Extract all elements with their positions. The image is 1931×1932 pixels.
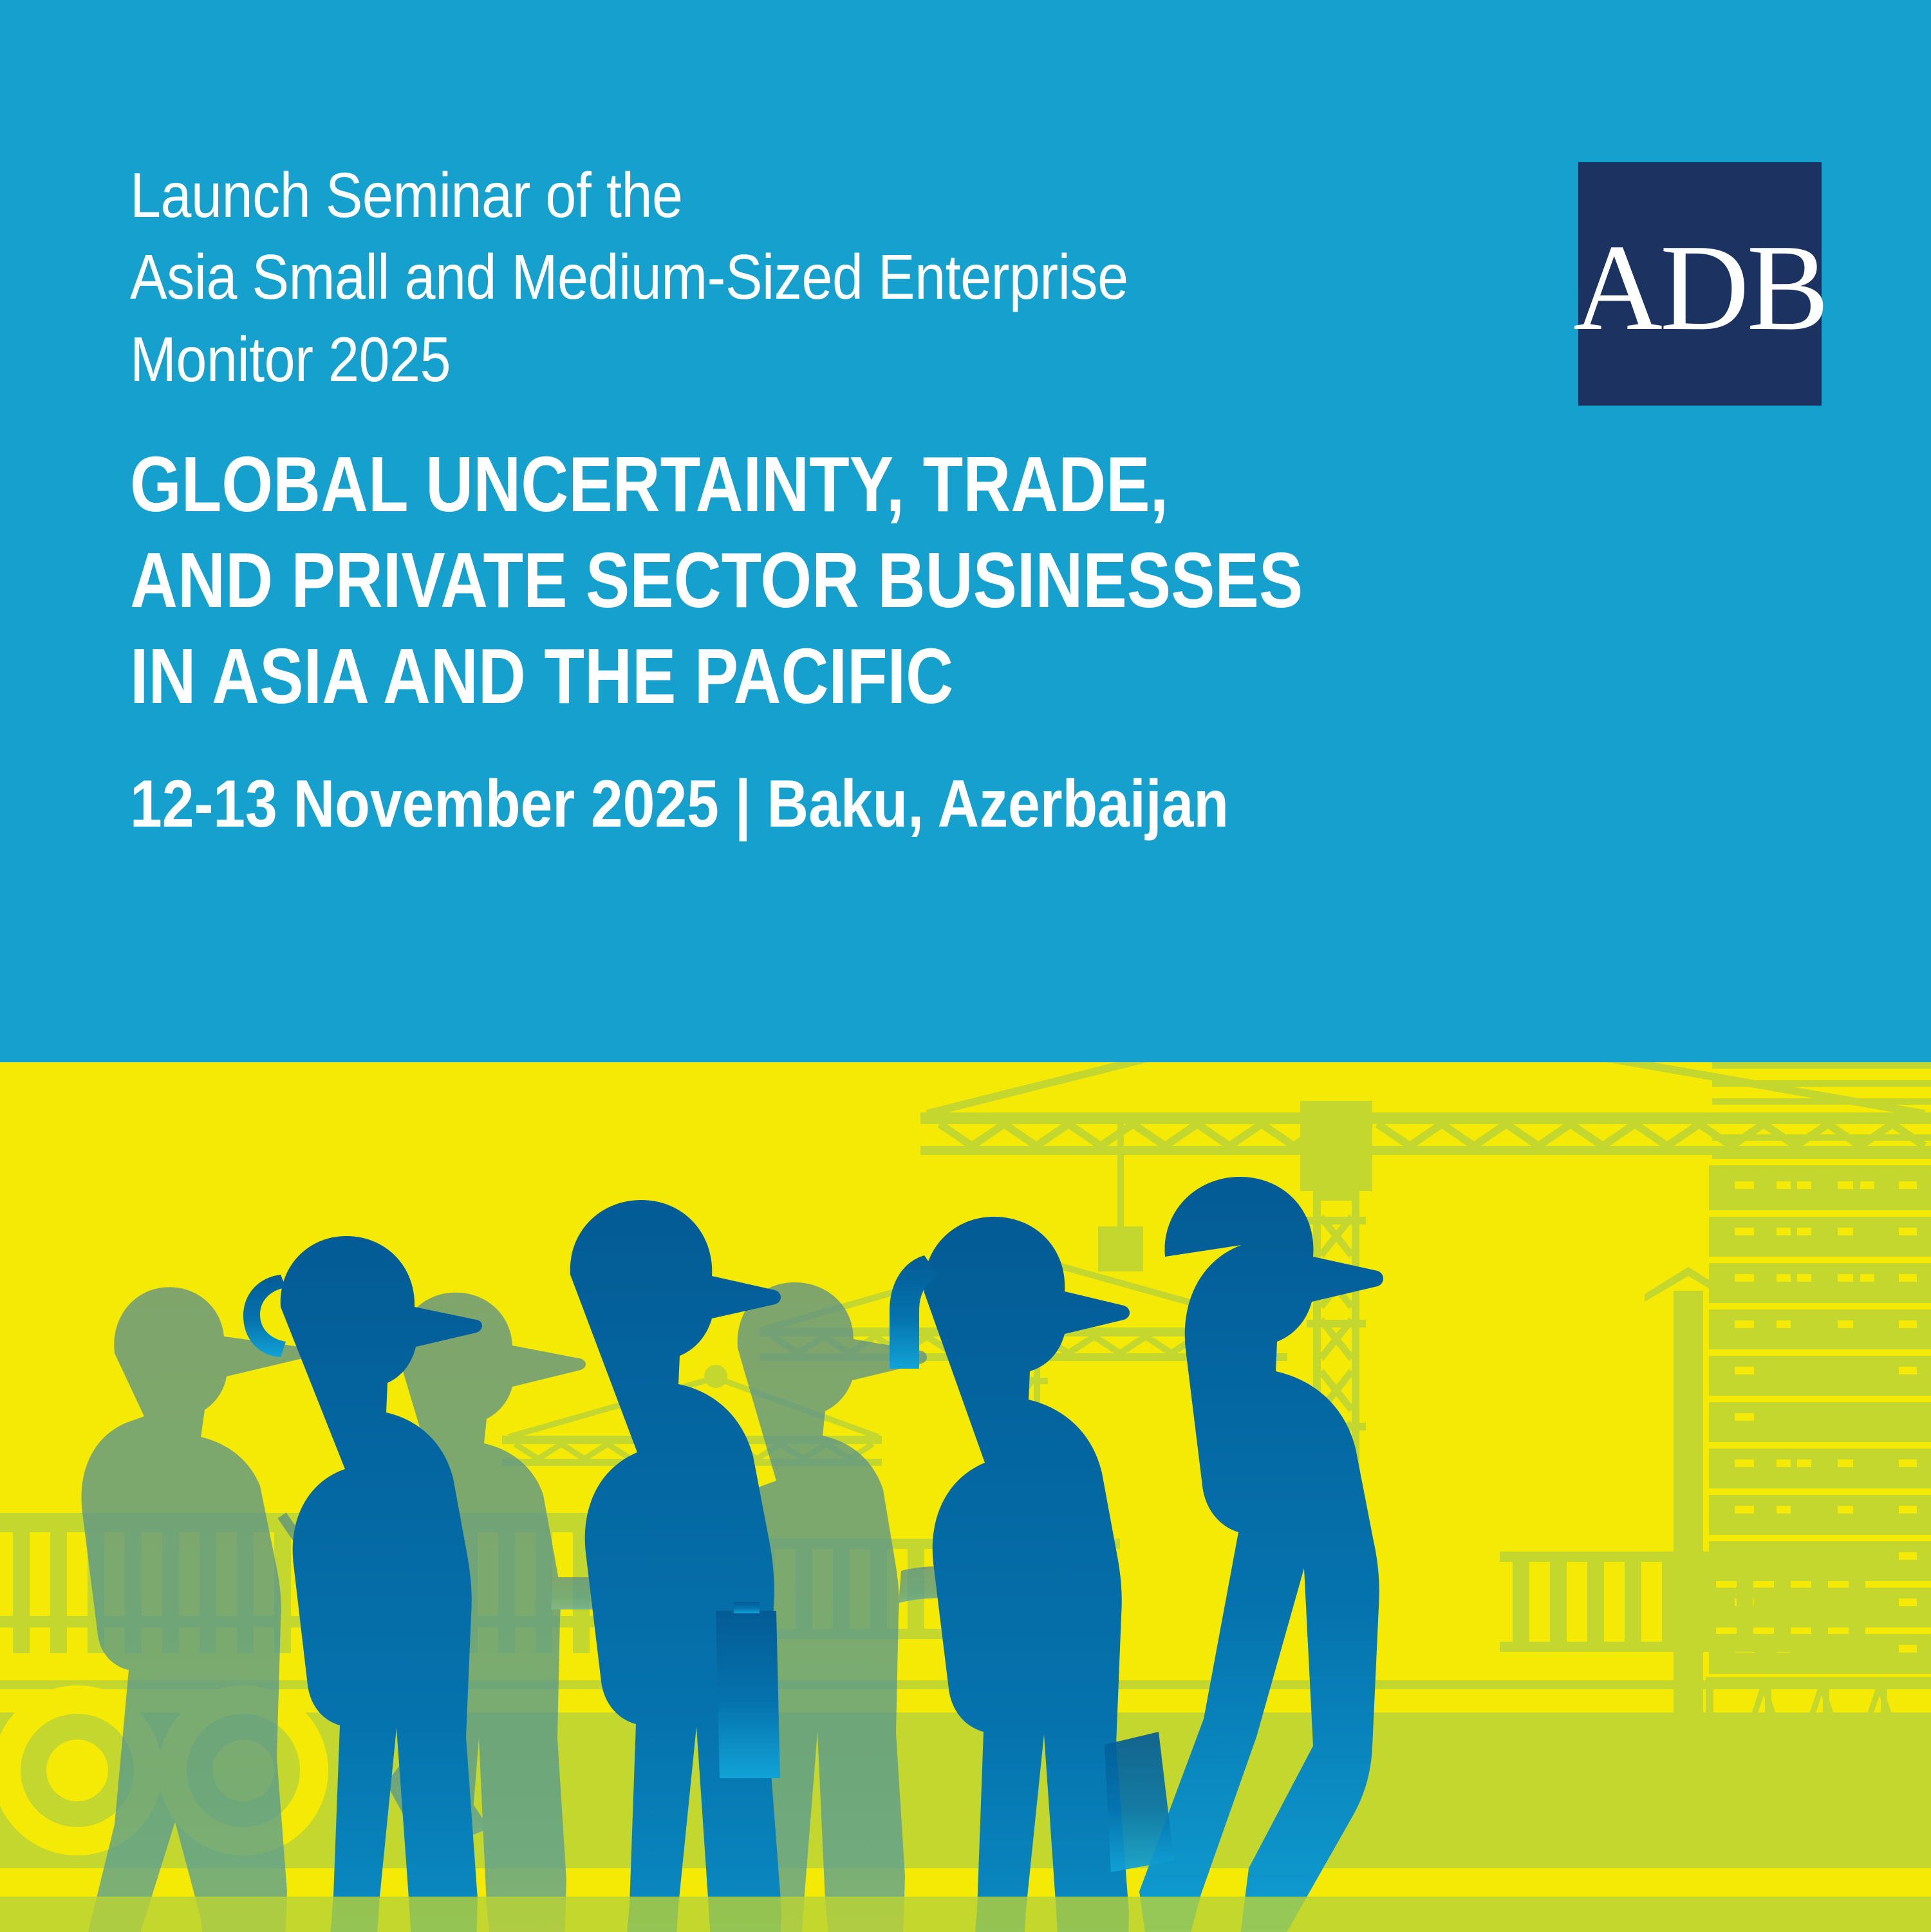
event-date-location: 12-13 November 2025 | Baku, Azerbaijan: [130, 764, 1337, 845]
adb-logo: ADB: [1578, 162, 1822, 406]
eyebrow-line-2: Asia Small and Medium-Sized Enterprise: [130, 236, 1365, 318]
title-line-1: GLOBAL UNCERTAINTY, TRADE,: [130, 436, 1309, 532]
adb-logo-wordmark: ADB: [1573, 226, 1826, 350]
poster: Launch Seminar of the Asia Small and Med…: [0, 0, 1931, 1932]
eyebrow-block: Launch Seminar of the Asia Small and Med…: [130, 155, 1365, 400]
construction-scene-illustration: [0, 1062, 1931, 1932]
header-panel: Launch Seminar of the Asia Small and Med…: [0, 0, 1931, 1062]
title-line-2: AND PRIVATE SECTOR BUSINESSES: [130, 532, 1309, 628]
header-text-block: Launch Seminar of the Asia Small and Med…: [130, 155, 1533, 844]
ground-stripe: [0, 1868, 1931, 1897]
eyebrow-line-3: Monitor 2025: [130, 319, 1365, 400]
illustration-panel: [0, 1062, 1931, 1932]
eyebrow-line-1: Launch Seminar of the: [130, 155, 1365, 236]
page-title: GLOBAL UNCERTAINTY, TRADE, AND PRIVATE S…: [130, 436, 1309, 724]
ground-shadow-band: [0, 1897, 1931, 1932]
title-line-3: IN ASIA AND THE PACIFIC: [130, 628, 1309, 724]
